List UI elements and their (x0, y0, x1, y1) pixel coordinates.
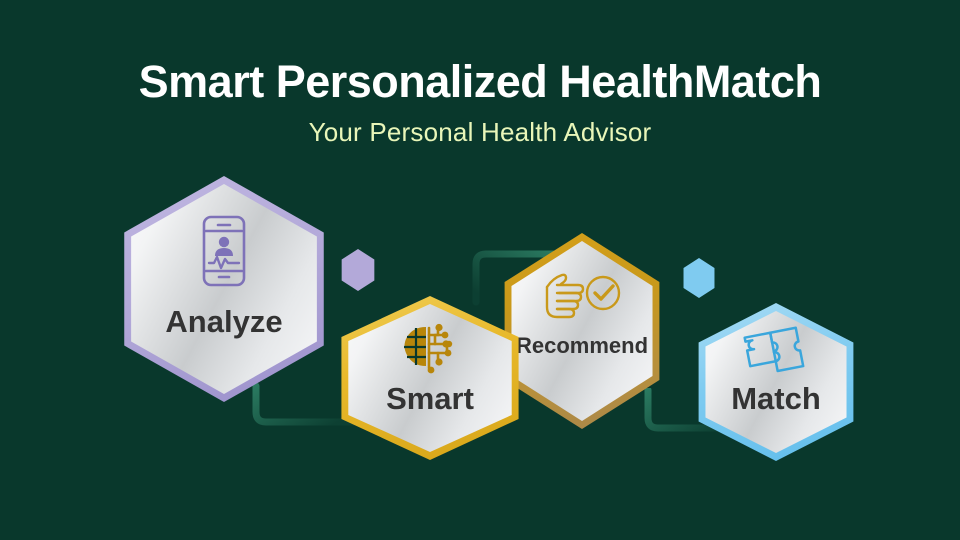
icon-slot-match (686, 323, 866, 381)
page-subtitle: Your Personal Health Advisor (0, 117, 960, 148)
step-label-match: Match (686, 381, 866, 417)
ai-brain-circuit-icon (402, 323, 458, 375)
connector-hex-recommend-match (681, 258, 717, 298)
puzzle-pieces-icon (740, 325, 812, 379)
step-card-analyze[interactable]: Analyze (108, 176, 340, 402)
step-card-smart[interactable]: Smart (327, 296, 533, 460)
pointing-hand-check-icon (543, 269, 621, 323)
step-label-smart: Smart (327, 381, 533, 417)
slide-canvas: Smart Personalized HealthMatch Your Pers… (0, 0, 960, 540)
header: Smart Personalized HealthMatch Your Pers… (0, 0, 960, 148)
icon-slot-analyze (108, 210, 340, 292)
step-card-match[interactable]: Match (686, 303, 866, 461)
step-label-analyze: Analyze (108, 304, 340, 340)
page-title: Smart Personalized HealthMatch (0, 58, 960, 105)
connector-hex-analyze-smart (339, 249, 377, 291)
smartphone-health-profile-icon (197, 214, 251, 288)
icon-slot-smart (327, 320, 533, 378)
